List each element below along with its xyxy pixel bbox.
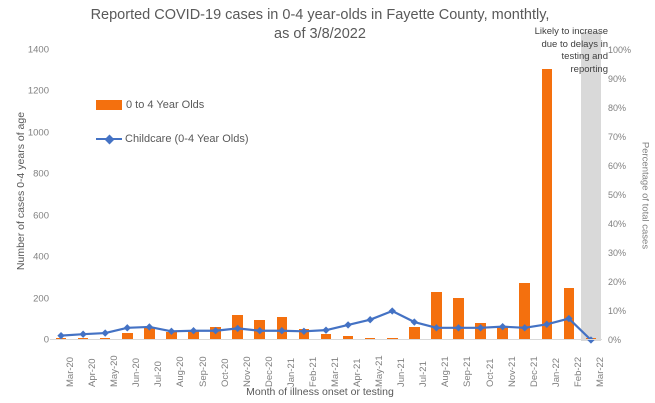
legend-label-bars: 0 to 4 Year Olds (126, 99, 204, 111)
annotation-callout: Likely to increase due to delays in test… (498, 26, 608, 76)
line-marker-jan-22[interactable] (543, 321, 550, 328)
legend-item-bars[interactable]: 0 to 4 Year Olds (96, 96, 249, 114)
line-marker-aug-20[interactable] (168, 328, 175, 335)
chart-title-line-1: Reported COVID-19 cases in 0-4 year-olds… (60, 6, 580, 25)
x-tick-label-may-21: May-21 (374, 355, 385, 387)
line-marker-jul-20[interactable] (146, 323, 153, 330)
x-tick-label-may-20: May-20 (109, 355, 120, 387)
line-marker-dec-21[interactable] (521, 324, 528, 331)
y-axis-title: Number of cases 0-4 years of age (15, 66, 27, 316)
x-axis-baseline (50, 339, 602, 340)
legend-line-swatch-icon (96, 134, 122, 144)
line-marker-nov-21[interactable] (499, 323, 506, 330)
line-marker-oct-20[interactable] (212, 327, 219, 334)
x-tick-label-jul-20: Jul-20 (153, 361, 164, 387)
x-tick-label-jan-22: Jan-22 (551, 358, 562, 387)
x-tick-label-apr-21: Apr-21 (352, 358, 363, 387)
x-tick-label-sep-20: Sep-20 (198, 356, 209, 387)
x-tick-label-oct-21: Oct-21 (485, 358, 496, 387)
line-marker-aug-21[interactable] (433, 324, 440, 331)
secondary-y-axis-title: Percentage of total cases (640, 71, 651, 321)
line-marker-dec-20[interactable] (256, 327, 263, 334)
chart-legend: 0 to 4 Year Olds Childcare (0-4 Year Old… (96, 96, 249, 164)
x-tick-label-mar-20: Mar-20 (65, 357, 76, 387)
plot-area (50, 50, 602, 340)
line-marker-jan-21[interactable] (278, 327, 285, 334)
x-tick-label-mar-22: Mar-22 (595, 357, 606, 387)
annotation-line-2: due to delays in (498, 39, 608, 52)
chart-container: Reported COVID-19 cases in 0-4 year-olds… (0, 0, 655, 403)
annotation-line-3: testing and (498, 51, 608, 64)
line-marker-may-21[interactable] (366, 316, 373, 323)
annotation-line-4: reporting (498, 64, 608, 77)
y-tick-label: 0 (9, 335, 49, 346)
x-tick-label-jan-21: Jan-21 (286, 358, 297, 387)
x-tick-label-sep-21: Sep-21 (462, 356, 473, 387)
x-tick-label-jun-21: Jun-21 (396, 358, 407, 387)
x-tick-label-nov-20: Nov-20 (242, 356, 253, 387)
line-marker-jun-21[interactable] (389, 307, 396, 314)
x-tick-label-jul-21: Jul-21 (418, 361, 429, 387)
line-marker-jul-21[interactable] (411, 318, 418, 325)
annotation-line-1: Likely to increase (498, 26, 608, 39)
x-tick-label-apr-20: Apr-20 (87, 358, 98, 387)
legend-bar-swatch-icon (96, 100, 122, 110)
x-tick-label-feb-21: Feb-21 (308, 357, 319, 387)
x-tick-label-jun-20: Jun-20 (131, 358, 142, 387)
line-marker-jun-20[interactable] (124, 324, 131, 331)
legend-label-line: Childcare (0-4 Year Olds) (125, 133, 249, 145)
line-marker-nov-20[interactable] (234, 325, 241, 332)
x-tick-label-mar-21: Mar-21 (330, 357, 341, 387)
secondary-y-tick-label: 100% (608, 45, 644, 55)
legend-item-line[interactable]: Childcare (0-4 Year Olds) (96, 130, 249, 148)
line-marker-oct-21[interactable] (477, 324, 484, 331)
x-tick-label-oct-20: Oct-20 (220, 358, 231, 387)
x-tick-label-dec-20: Dec-20 (264, 356, 275, 387)
x-tick-label-aug-20: Aug-20 (175, 356, 186, 387)
x-axis-title: Month of illness onset or testing (60, 386, 580, 398)
x-tick-label-aug-21: Aug-21 (440, 356, 451, 387)
childcare-line-path (61, 311, 591, 340)
secondary-y-tick-label: 0% (608, 335, 644, 345)
line-marker-sep-21[interactable] (455, 324, 462, 331)
line-marker-apr-21[interactable] (344, 321, 351, 328)
line-marker-feb-21[interactable] (300, 328, 307, 335)
x-tick-label-feb-22: Feb-22 (573, 357, 584, 387)
line-marker-may-20[interactable] (102, 329, 109, 336)
x-tick-label-dec-21: Dec-21 (529, 356, 540, 387)
x-tick-label-nov-21: Nov-21 (507, 356, 518, 387)
line-marker-mar-21[interactable] (322, 326, 329, 333)
line-marker-apr-20[interactable] (79, 331, 86, 338)
y-tick-label: 1400 (9, 45, 49, 56)
line-marker-sep-20[interactable] (190, 327, 197, 334)
line-series-childcare (50, 50, 602, 340)
